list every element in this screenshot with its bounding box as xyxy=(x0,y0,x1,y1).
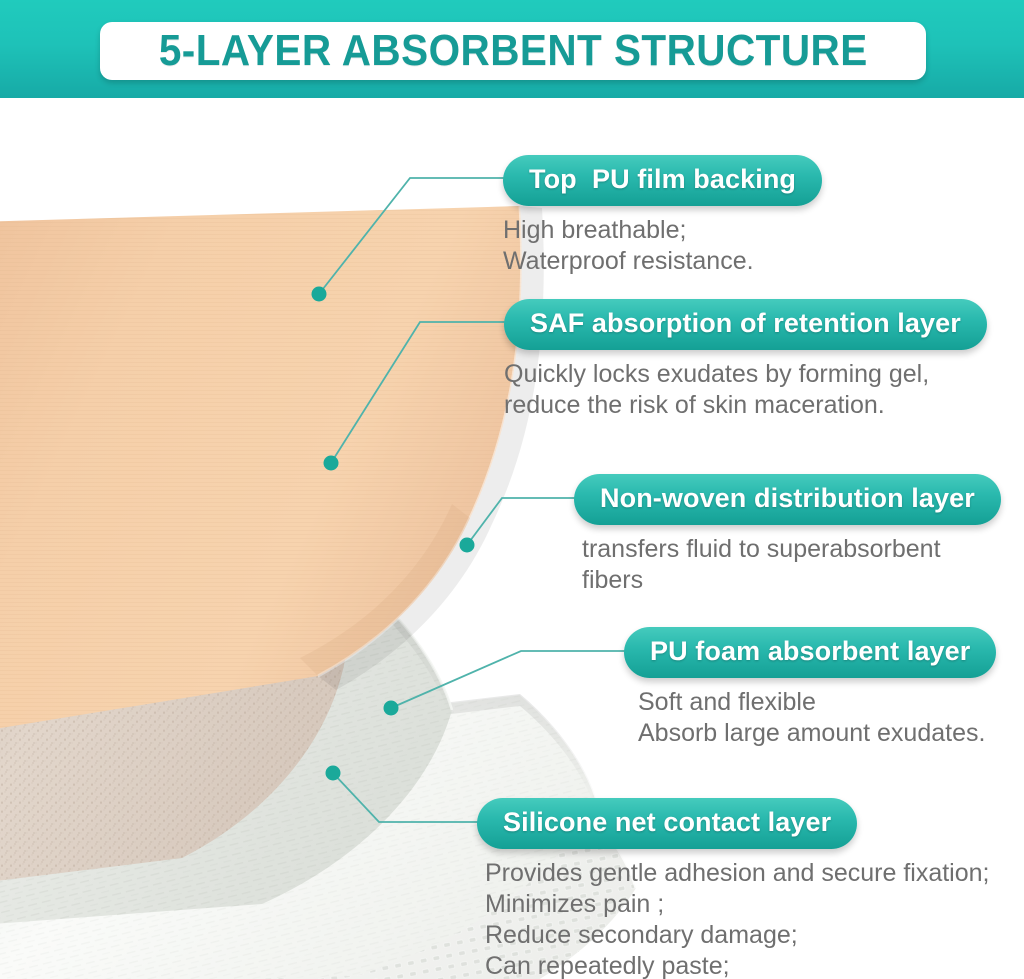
callout-pill[interactable]: Non-woven distribution layer xyxy=(574,474,1001,525)
callout-saf-absorption-retention-layer: SAF absorption of retention layer Quickl… xyxy=(504,299,987,421)
callout-pu-foam-absorbent-layer: PU foam absorbent layer Soft and flexibl… xyxy=(624,627,996,749)
header-title-pill: 5-LAYER ABSORBENT STRUCTURE xyxy=(100,22,926,80)
callout-label: Silicone net contact layer xyxy=(503,807,831,837)
callout-pill[interactable]: SAF absorption of retention layer xyxy=(504,299,987,350)
infographic-page: 5-LAYER ABSORBENT STRUCTURE xyxy=(0,0,1024,979)
callout-label: SAF absorption of retention layer xyxy=(530,308,961,338)
callout-pill[interactable]: Top PU film backing xyxy=(503,155,822,206)
callout-description: High breathable; Waterproof resistance. xyxy=(503,215,822,277)
callout-label: Non-woven distribution layer xyxy=(600,483,975,513)
callout-pill[interactable]: PU foam absorbent layer xyxy=(624,627,996,678)
callout-description: transfers fluid to superabsorbent fibers xyxy=(582,534,1001,596)
callout-non-woven-distribution-layer: Non-woven distribution layer transfers f… xyxy=(574,474,1001,596)
page-title: 5-LAYER ABSORBENT STRUCTURE xyxy=(159,26,868,76)
callout-description: Quickly locks exudates by forming gel, r… xyxy=(504,359,987,421)
callout-description: Soft and flexible Absorb large amount ex… xyxy=(638,687,996,749)
callout-description: Provides gentle adhesion and secure fixa… xyxy=(485,858,990,979)
callout-label: Top PU film backing xyxy=(529,164,796,194)
callout-label: PU foam absorbent layer xyxy=(650,636,970,666)
callout-top-pu-film-backing: Top PU film backing High breathable; Wat… xyxy=(503,155,822,277)
header-banner: 5-LAYER ABSORBENT STRUCTURE xyxy=(0,0,1024,98)
callout-silicone-net-contact-layer: Silicone net contact layer Provides gent… xyxy=(477,798,990,979)
callout-pill[interactable]: Silicone net contact layer xyxy=(477,798,857,849)
